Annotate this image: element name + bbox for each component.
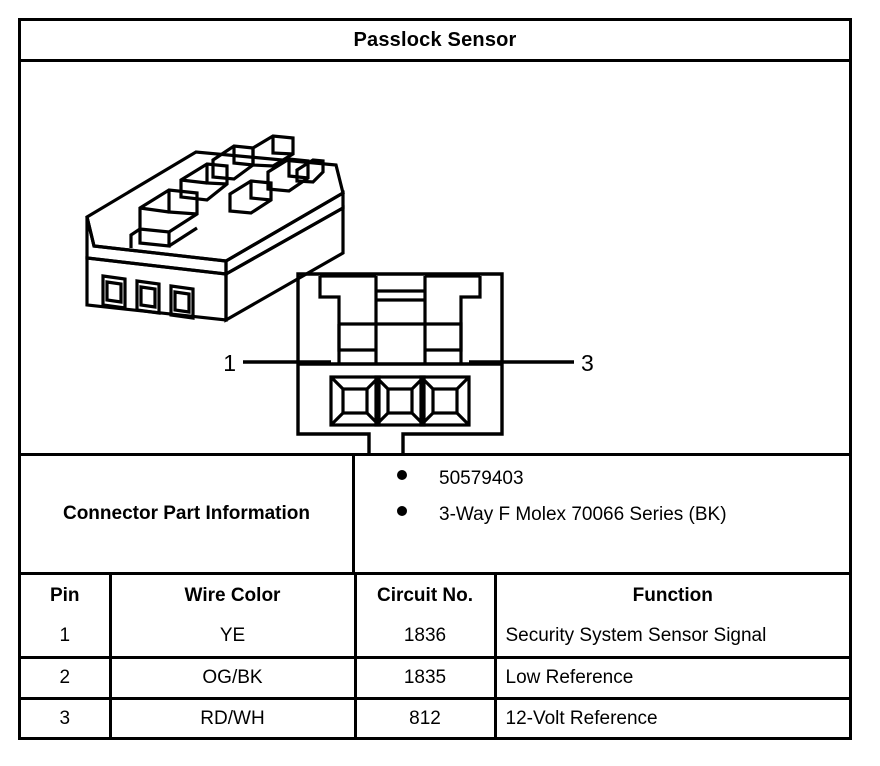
pin-callout-label-1: 1 bbox=[223, 350, 236, 376]
connector-part-information-label-cell: Connector Part Information bbox=[21, 456, 355, 572]
cell-circuit-no: 1835 bbox=[355, 657, 495, 698]
cell-function: Low Reference bbox=[495, 657, 849, 698]
connector-part-information-values-cell: 50579403 3-Way F Molex 70066 Series (BK) bbox=[355, 456, 849, 572]
connector-part-information-label: Connector Part Information bbox=[63, 503, 310, 525]
column-header-pin: Pin bbox=[21, 575, 110, 616]
column-header-circuit-no: Circuit No. bbox=[355, 575, 495, 616]
page-title: Passlock Sensor bbox=[353, 29, 516, 52]
connector-part-description: 3-Way F Molex 70066 Series (BK) bbox=[439, 504, 727, 526]
cell-wire-color: YE bbox=[110, 616, 355, 657]
cell-circuit-no: 1836 bbox=[355, 616, 495, 657]
cell-wire-color: OG/BK bbox=[110, 657, 355, 698]
table-row: 2 OG/BK 1835 Low Reference bbox=[21, 657, 849, 698]
connector-part-information-row: Connector Part Information 50579403 3-Wa… bbox=[21, 456, 849, 575]
pin-assignment-table: Pin Wire Color Circuit No. Function 1 YE… bbox=[21, 575, 849, 739]
connector-end-view-sheet: Passlock Sensor bbox=[18, 18, 852, 740]
cell-pin: 2 bbox=[21, 657, 110, 698]
pin-cavity-1 bbox=[331, 377, 379, 425]
connector-drawing: 1 3 bbox=[21, 62, 849, 456]
connector-part-bullet-item: 3-Way F Molex 70066 Series (BK) bbox=[355, 504, 849, 540]
cell-pin: 1 bbox=[21, 616, 110, 657]
sheet-title-row: Passlock Sensor bbox=[21, 21, 849, 62]
pin-cavity-3 bbox=[421, 377, 469, 425]
column-header-function: Function bbox=[495, 575, 849, 616]
bullet-dot-icon bbox=[397, 470, 407, 480]
cell-function: Security System Sensor Signal bbox=[495, 616, 849, 657]
connector-part-bullet-item: 50579403 bbox=[355, 468, 849, 504]
bullet-dot-icon bbox=[397, 506, 407, 516]
isometric-connector-body bbox=[87, 136, 343, 320]
table-row: 1 YE 1836 Security System Sensor Signal bbox=[21, 616, 849, 657]
table-row: 3 RD/WH 812 12-Volt Reference bbox=[21, 698, 849, 739]
cell-circuit-no: 812 bbox=[355, 698, 495, 739]
pin-callout-label-3: 3 bbox=[581, 350, 594, 376]
table-header-row: Pin Wire Color Circuit No. Function bbox=[21, 575, 849, 616]
column-header-wire-color: Wire Color bbox=[110, 575, 355, 616]
front-view-connector bbox=[243, 274, 574, 456]
connector-part-number: 50579403 bbox=[439, 468, 524, 490]
pin-cavity-2 bbox=[376, 377, 424, 425]
cell-wire-color: RD/WH bbox=[110, 698, 355, 739]
cell-function: 12-Volt Reference bbox=[495, 698, 849, 739]
cell-pin: 3 bbox=[21, 698, 110, 739]
connector-illustration-panel: 1 3 bbox=[21, 62, 849, 456]
